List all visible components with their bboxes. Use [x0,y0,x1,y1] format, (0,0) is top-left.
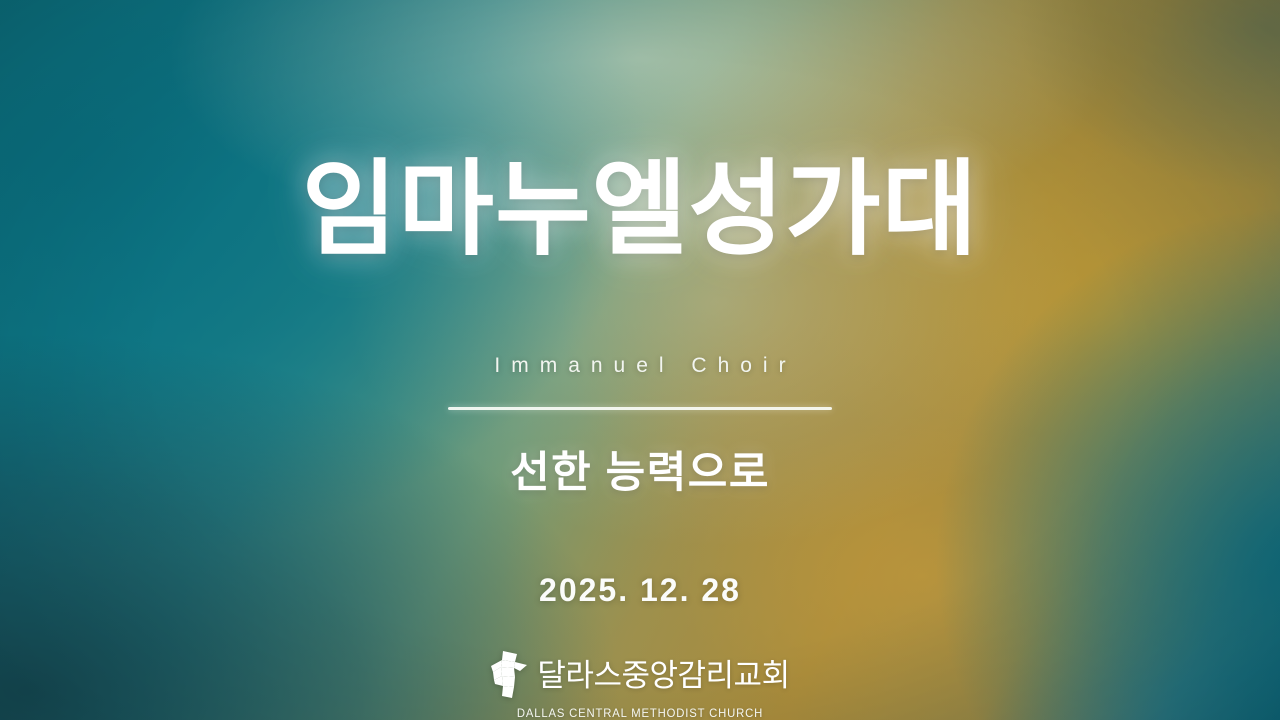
presentation-slide: 임마누엘성가대 Immanuel Choir 선한 능력으로 2025. 12.… [0,0,1280,720]
page-title: 임마누엘성가대 [302,152,979,268]
church-logo: 달라스중앙감리교회 DALLAS CENTRAL METHODIST CHURC… [490,651,789,720]
logo-row: 달라스중앙감리교회 [490,651,789,701]
subtitle-romanized: Immanuel Choir [483,354,796,378]
song-title: 선한 능력으로 [510,438,770,500]
church-cross-mark-icon [490,651,528,701]
slide-content: 임마누엘성가대 Immanuel Choir 선한 능력으로 2025. 12.… [0,0,1280,720]
divider [448,407,832,410]
church-name-english: DALLAS CENTRAL METHODIST CHURCH [517,706,763,720]
church-name-korean: 달라스중앙감리교회 [537,660,789,691]
service-date: 2025. 12. 28 [539,572,741,609]
